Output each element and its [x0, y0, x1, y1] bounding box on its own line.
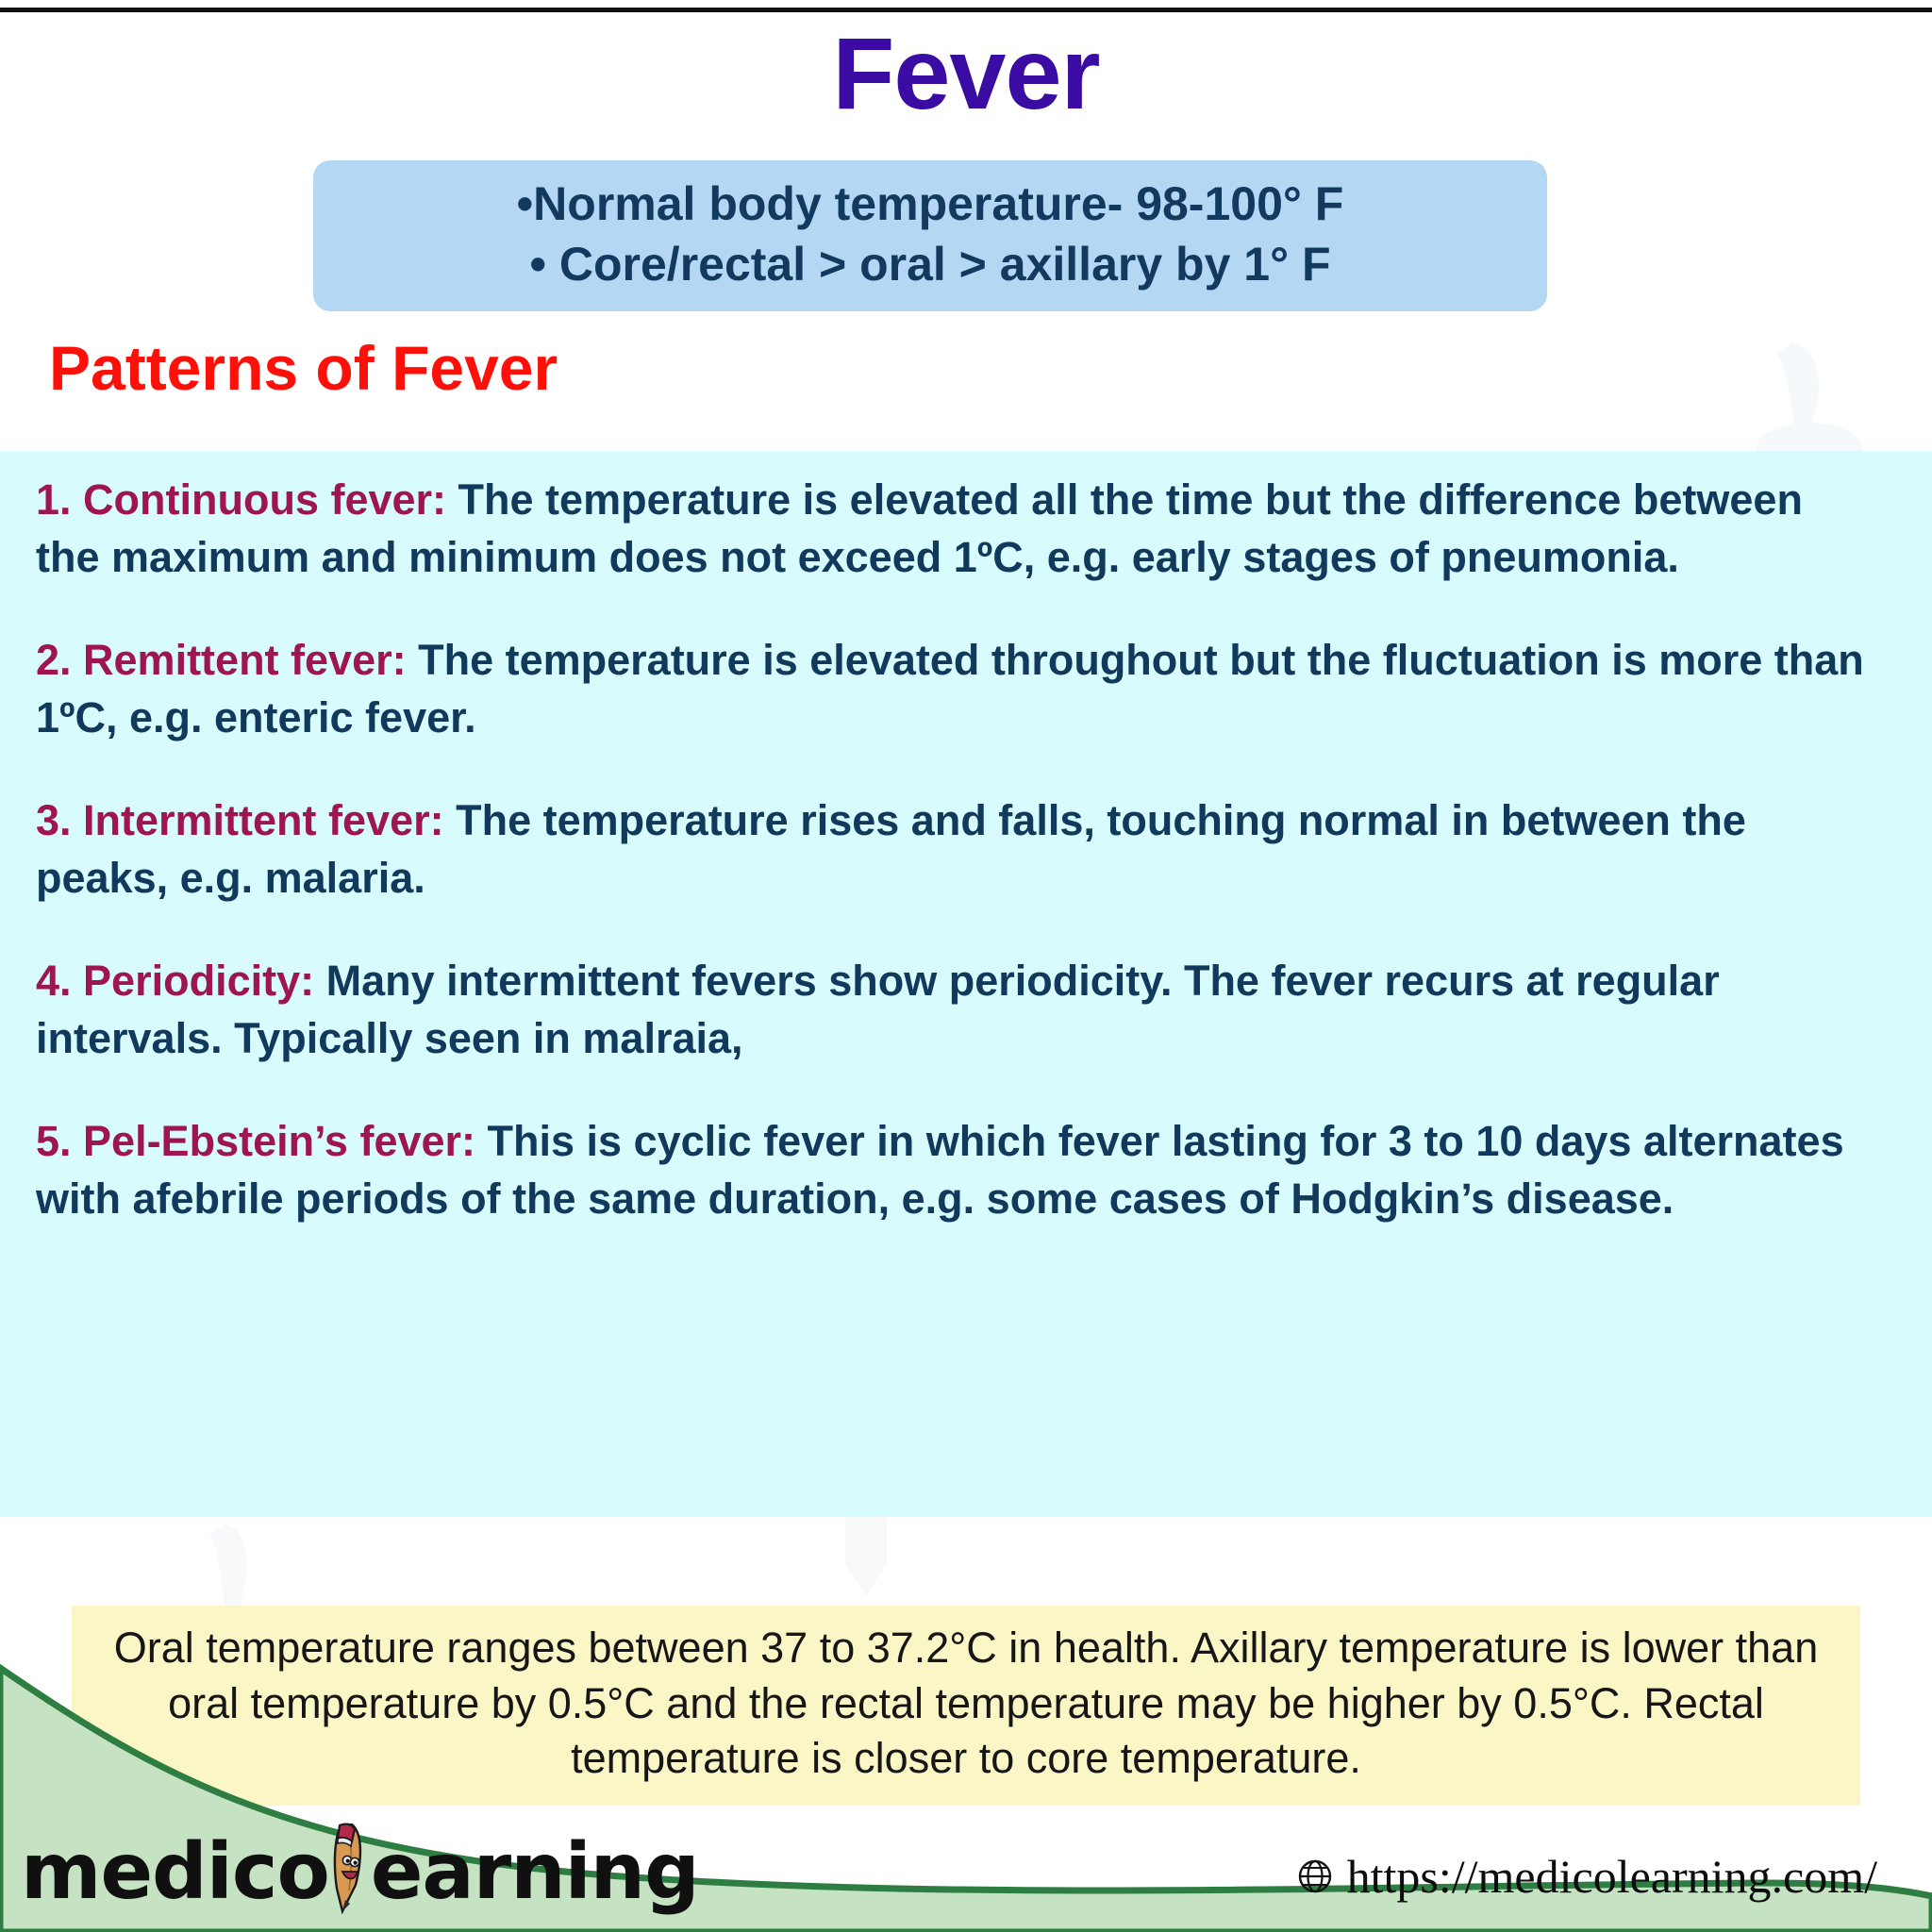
site-url-text[interactable]: https://medicolearning.com/	[1347, 1849, 1877, 1904]
info-line-normal-temperature: •Normal body temperature- 98-100° F	[332, 174, 1528, 234]
fever-pattern-label: 3. Intermittent fever:	[36, 796, 444, 844]
info-line-site-comparison: • Core/rectal > oral > axillary by 1° F	[332, 234, 1528, 294]
fever-pattern-item: 5. Pel-Ebstein’s fever: This is cyclic f…	[36, 1113, 1875, 1227]
fever-pattern-item: 2. Remittent fever: The temperature is e…	[36, 632, 1875, 746]
watermark-logo-topright	[1736, 332, 1887, 455]
medicolearning-logo: medico earning	[21, 1813, 699, 1911]
fever-pattern-item: 3. Intermittent fever: The temperature r…	[36, 792, 1875, 907]
section-heading-patterns-of-fever: Patterns of Fever	[49, 332, 558, 404]
fever-pattern-item: 4. Periodicity: Many intermittent fevers…	[36, 953, 1875, 1067]
fever-pattern-label: 4. Periodicity:	[36, 957, 314, 1005]
logo-text-suffix: earning	[371, 1834, 699, 1911]
top-divider-rule	[0, 8, 1932, 12]
fever-pattern-label: 1. Continuous fever:	[36, 475, 446, 524]
pencil-mascot-icon	[324, 1817, 375, 1919]
site-url-block[interactable]: https://medicolearning.com/	[1296, 1849, 1877, 1904]
fever-patterns-panel: 1. Continuous fever: The temperature is …	[0, 451, 1932, 1517]
logo-text-prefix: medico	[21, 1834, 329, 1911]
fever-pattern-item: 1. Continuous fever: The temperature is …	[36, 472, 1875, 586]
normal-temperature-info-box: •Normal body temperature- 98-100° F • Co…	[313, 160, 1547, 311]
page-title: Fever	[0, 19, 1932, 129]
globe-icon	[1296, 1857, 1334, 1895]
fever-pattern-label: 2. Remittent fever:	[36, 636, 407, 684]
fever-pattern-label: 5. Pel-Ebstein’s fever:	[36, 1117, 475, 1165]
